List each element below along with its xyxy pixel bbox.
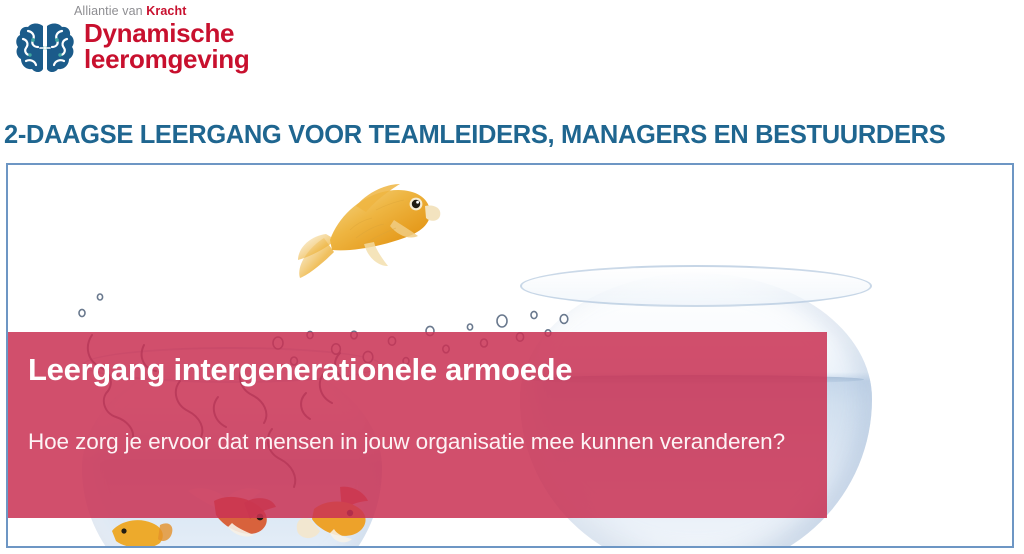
logo-wordmark-line2: leeromgeving	[84, 46, 249, 72]
hero-subtitle: Hoe zorg je ervoor dat mensen in jouw or…	[28, 423, 798, 461]
brain-icon	[14, 20, 76, 76]
brand-logo[interactable]: Alliantie van Kracht	[14, 2, 294, 86]
hero-title: Leergang intergenerationele armoede	[28, 352, 808, 388]
hero-photo: Leergang intergenerationele armoede Hoe …	[8, 165, 1012, 546]
hero-image-frame: Leergang intergenerationele armoede Hoe …	[6, 163, 1014, 548]
goldfish-small-a-icon	[108, 515, 174, 546]
fishbowl-right-rim	[520, 265, 872, 307]
logo-tagline-accent: Kracht	[146, 4, 186, 18]
logo-tagline: Alliantie van Kracht	[74, 4, 186, 18]
page-headline: 2-DAAGSE LEERGANG VOOR TEAMLEIDERS, MANA…	[4, 120, 1020, 150]
goldfish-jumping-icon	[294, 170, 446, 292]
logo-wordmark: Dynamische leeromgeving	[84, 20, 249, 72]
logo-tagline-prefix: Alliantie van	[74, 4, 146, 18]
